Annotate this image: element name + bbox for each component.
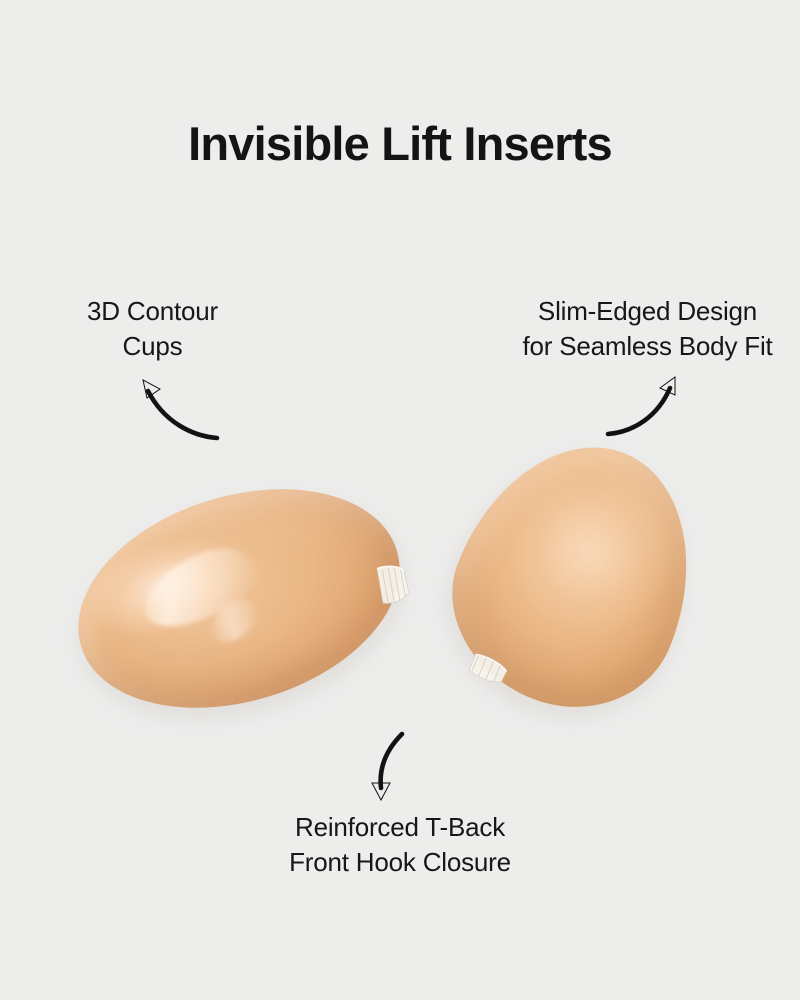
left-silicone-cup: [62, 478, 422, 718]
callout-label-contour-cups: 3D Contour Cups: [20, 294, 285, 363]
product-infographic: Invisible Lift Inserts 3D Contour Cups S…: [0, 0, 800, 1000]
callout-line-1: Reinforced T-Back: [235, 810, 565, 845]
curved-arrow-down-icon: [352, 726, 432, 806]
right-cup-rim-shade: [421, 411, 731, 739]
front-hook-clasp-left: [372, 557, 414, 610]
callout-label-slim-edge: Slim-Edged Design for Seamless Body Fit: [495, 294, 800, 363]
callout-label-t-back-closure: Reinforced T-Back Front Hook Closure: [235, 810, 565, 879]
callout-line-2: for Seamless Body Fit: [495, 329, 800, 364]
callout-line-2: Front Hook Closure: [235, 845, 565, 880]
right-silicone-cup: [448, 432, 704, 720]
callout-line-1: Slim-Edged Design: [495, 294, 800, 329]
callout-line-1: 3D Contour: [20, 294, 285, 329]
page-title: Invisible Lift Inserts: [0, 118, 800, 170]
curved-arrow-up-left-icon: [120, 368, 230, 448]
callout-line-2: Cups: [20, 329, 285, 364]
